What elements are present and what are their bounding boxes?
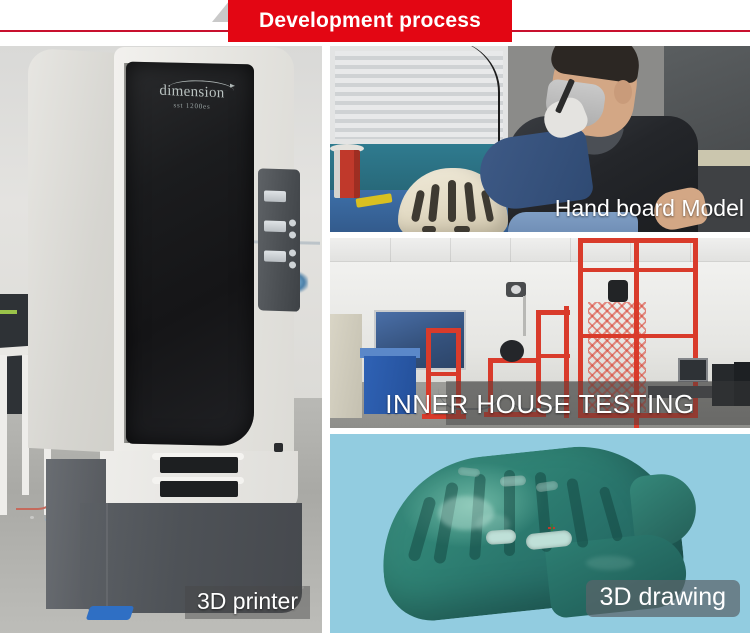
header-title-tag: Development process <box>228 0 512 42</box>
caption-3d-drawing: 3D drawing <box>586 580 740 617</box>
rig-1-mid <box>426 372 461 376</box>
rig-3-mid <box>536 354 570 358</box>
rig-3-top <box>536 310 570 315</box>
drop-weight <box>608 280 628 302</box>
rig-1-top <box>426 328 461 333</box>
panel-inner-house-testing[interactable]: INNER HOUSE TESTING <box>330 238 750 428</box>
printer-power-switch[interactable] <box>274 443 283 452</box>
brand-model: sst 1200es <box>150 100 234 112</box>
header: Development process <box>0 0 750 46</box>
printer-led-1 <box>289 219 296 226</box>
printer-display <box>264 190 286 202</box>
printer-vent-1 <box>160 457 238 473</box>
lab-monitor <box>678 358 708 382</box>
printer-led-4 <box>289 261 296 268</box>
paint-can <box>334 150 360 198</box>
printer-branding: dimension sst 1200es <box>150 83 234 112</box>
development-process-banner: Development process <box>0 0 750 633</box>
printer-glass-door: dimension sst 1200es <box>126 62 254 447</box>
impact-head-1 <box>500 340 524 362</box>
printer-vent-2 <box>160 481 238 497</box>
cad-origin-marker <box>548 524 556 532</box>
panel-grid: dimension sst 1200es <box>0 46 750 633</box>
wall-fan <box>506 282 526 297</box>
helmet-vent-3 <box>500 475 527 487</box>
equipment-label-strip <box>0 310 17 314</box>
technician-ear <box>614 80 632 104</box>
cage-rail-top <box>578 268 698 272</box>
printer-control-panel[interactable] <box>258 168 300 311</box>
printer-base-seam <box>106 503 108 611</box>
caption-hand-board-model: Hand board Model <box>555 195 744 222</box>
caption-inner-house-testing: INNER HOUSE TESTING <box>330 389 750 420</box>
printer-led-3 <box>289 249 296 256</box>
panel-3d-drawing[interactable]: 3D drawing <box>330 434 750 633</box>
printer-button-1[interactable] <box>264 220 286 232</box>
printer-led-2 <box>289 231 296 238</box>
page-title: Development process <box>259 9 481 33</box>
caption-3d-printer: 3D printer <box>185 586 310 619</box>
printer-lower-housing <box>100 451 298 511</box>
dimension-3d-printer: dimension sst 1200es <box>28 51 290 611</box>
panel-3d-printer[interactable]: dimension sst 1200es <box>0 46 322 633</box>
panel-hand-board-model[interactable]: Hand board Model <box>330 46 750 232</box>
printer-button-2[interactable] <box>264 250 286 262</box>
ceiling-pipe <box>523 296 526 336</box>
blue-floor-object <box>86 606 135 620</box>
